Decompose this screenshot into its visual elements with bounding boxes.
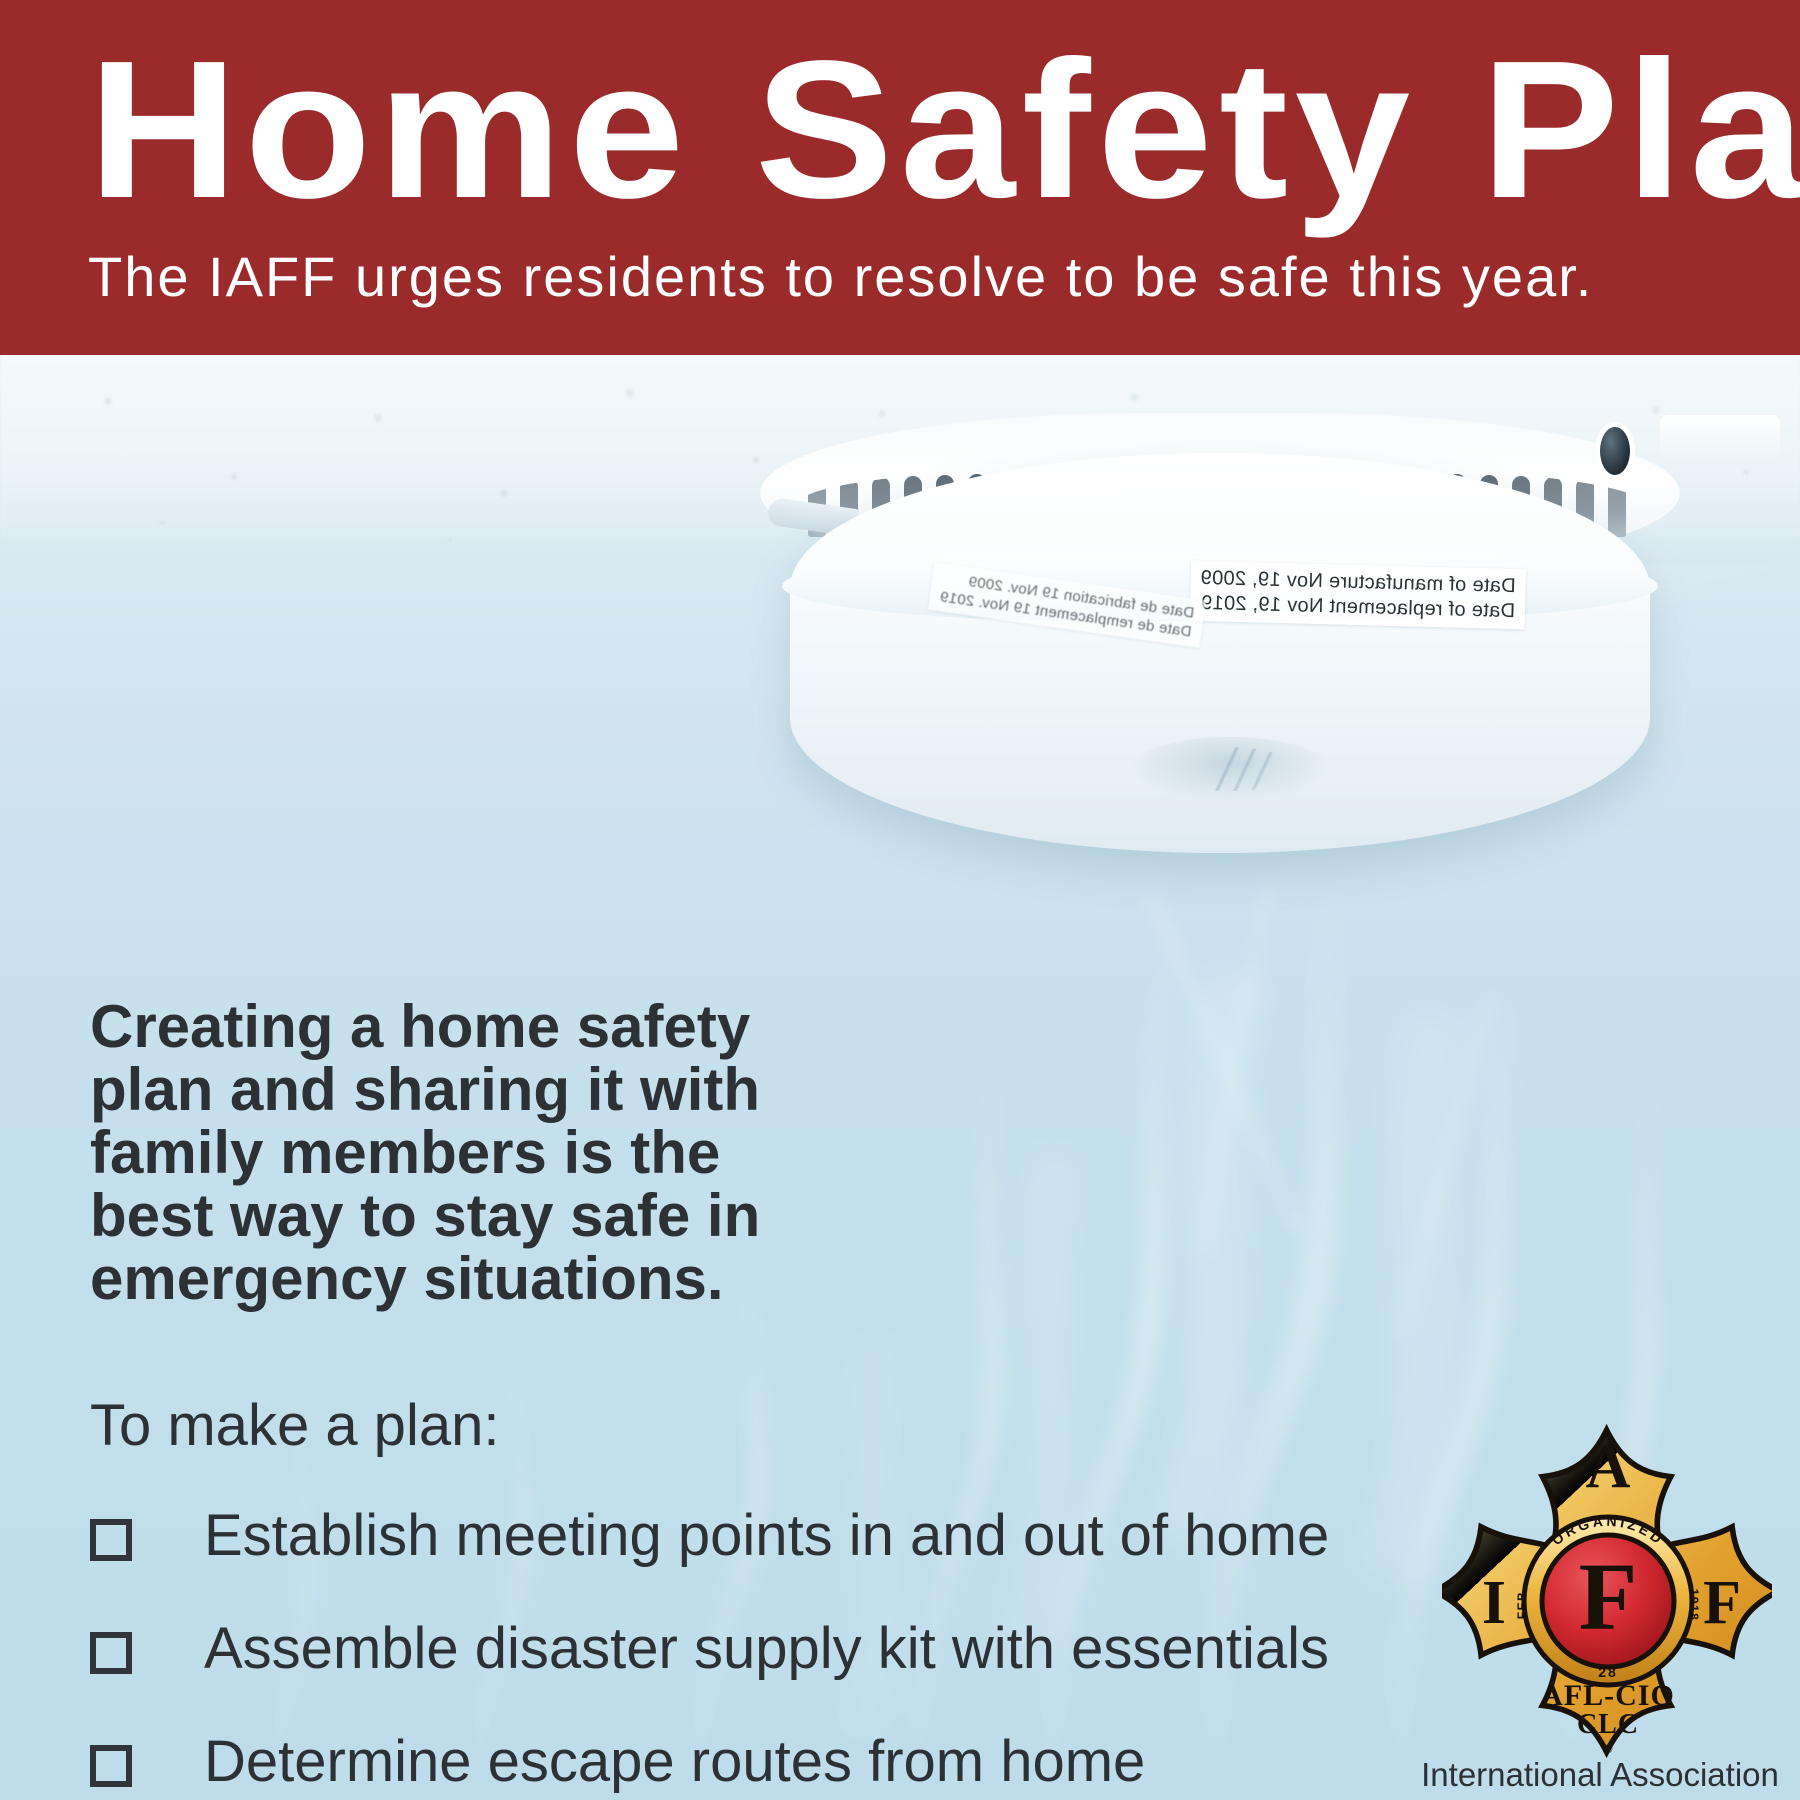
checklist-item[interactable]: Establish meeting points in and out of h… <box>90 1505 1390 1618</box>
checklist: Establish meeting points in and out of h… <box>90 1505 1390 1800</box>
checklist-item-label: Establish meeting points in and out of h… <box>204 1505 1329 1567</box>
logo-ring-28: 28 <box>1598 1664 1618 1680</box>
detector-test-button-lines <box>1165 747 1295 791</box>
logo-letter-center: F <box>1579 1543 1638 1650</box>
logo-letter-right: F <box>1703 1569 1741 1637</box>
checklist-item-label: Determine escape routes from home <box>204 1731 1145 1793</box>
home-safety-plan-poster: Home Safety Plan The IAFF urges resident… <box>0 0 1800 1800</box>
header-band: Home Safety Plan The IAFF urges resident… <box>0 0 1800 355</box>
smoke-detector-photo: Date of manufacture Nov 19, 2009 Date of… <box>760 375 1700 875</box>
logo-letter-top: A <box>1586 1433 1631 1501</box>
detector-notch <box>1660 415 1780 465</box>
detector-led-indicator <box>1600 427 1630 475</box>
logo-registered-mark: ® <box>1603 1741 1613 1756</box>
logo-caption-line-2: of Fire Fighters <box>1400 1795 1800 1800</box>
logo-caption: International Association of Fire Fighte… <box>1400 1755 1800 1800</box>
iaff-logo: A I F AFL-CIO CLC ® ORGANIZED FEB 1918 2… <box>1442 1415 1772 1785</box>
checklist-item[interactable]: Determine escape routes from home <box>90 1731 1390 1800</box>
checklist-item-label: Assemble disaster supply kit with essent… <box>204 1618 1329 1680</box>
checkbox-icon[interactable] <box>90 1745 132 1787</box>
checkbox-icon[interactable] <box>90 1519 132 1561</box>
detector-vent-slot <box>1608 479 1626 537</box>
logo-caption-line-1: International Association <box>1400 1755 1800 1795</box>
logo-ring-feb: FEB <box>1515 1591 1529 1620</box>
page-subtitle: The IAFF urges residents to resolve to b… <box>88 248 1593 306</box>
logo-letter-left: I <box>1482 1569 1506 1637</box>
page-title: Home Safety Plan <box>88 32 1800 228</box>
logo-ring-1918: 1918 <box>1687 1589 1701 1622</box>
detector-date-label-english: Date of manufacture Nov 19, 2009 Date of… <box>1189 561 1526 630</box>
lead-paragraph: Creating a home safety plan and sharing … <box>90 995 790 1310</box>
list-intro: To make a plan: <box>90 1395 499 1457</box>
logo-clc: CLC <box>1577 1709 1639 1740</box>
checkbox-icon[interactable] <box>90 1632 132 1674</box>
checklist-item[interactable]: Assemble disaster supply kit with essent… <box>90 1618 1390 1731</box>
photo-background: Date of manufacture Nov 19, 2009 Date of… <box>0 355 1800 1800</box>
